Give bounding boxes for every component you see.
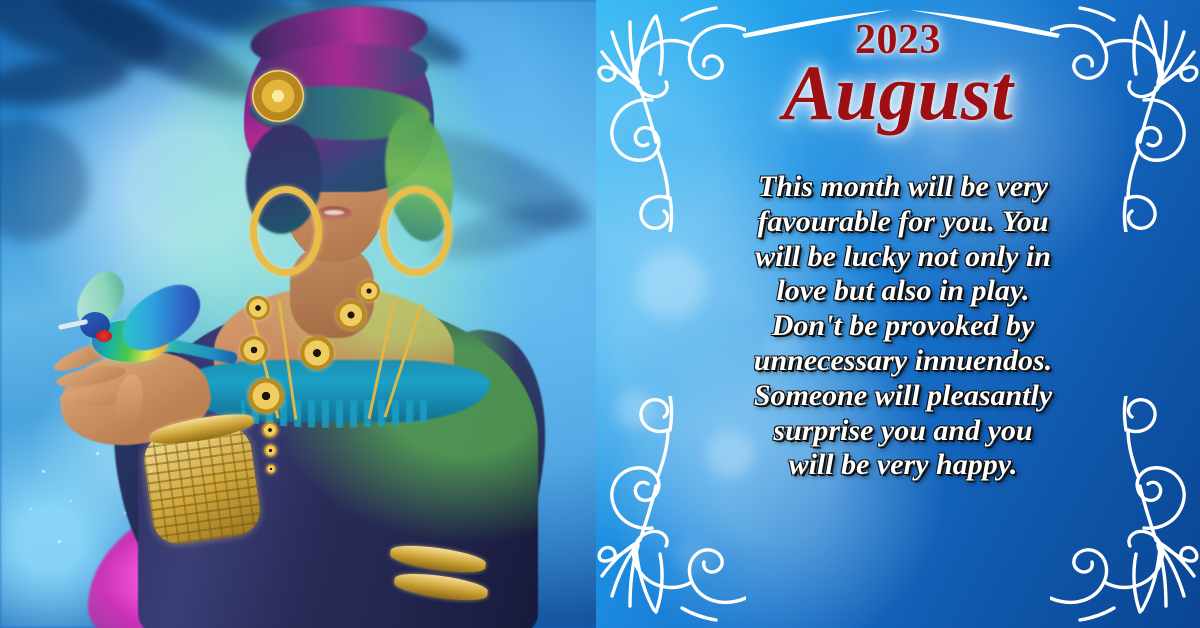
necklace-disc bbox=[248, 378, 284, 414]
banner-canvas: 2023 August This month will be very favo… bbox=[0, 0, 1200, 628]
hummingbird-throat bbox=[96, 330, 112, 342]
forecast-panel: 2023 August This month will be very favo… bbox=[596, 0, 1200, 628]
hoop-earring bbox=[380, 186, 452, 276]
necklace-disc bbox=[240, 336, 268, 364]
necklace-pendant bbox=[264, 444, 277, 457]
turban-brooch bbox=[252, 70, 304, 122]
necklace-disc bbox=[300, 336, 334, 370]
hoop-earring bbox=[250, 186, 322, 276]
necklace-disc bbox=[336, 300, 366, 330]
month-title: August bbox=[596, 54, 1200, 132]
monthly-forecast-text: This month will be very favourable for y… bbox=[662, 170, 1144, 483]
necklace-pendant bbox=[266, 464, 276, 474]
fortune-teller-illustration bbox=[0, 0, 620, 628]
lip-highlight bbox=[324, 210, 344, 215]
necklace-disc bbox=[246, 296, 270, 320]
necklace-disc bbox=[358, 280, 380, 302]
necklace-pendant bbox=[262, 422, 278, 438]
